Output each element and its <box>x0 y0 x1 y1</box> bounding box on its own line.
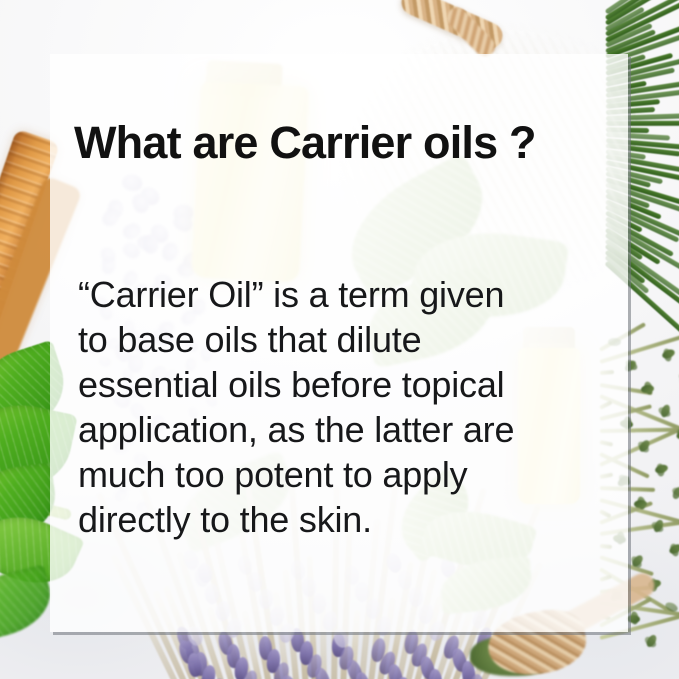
body-line: to base oils that dilute <box>78 317 618 362</box>
image-canvas: What are Carrier oils ? “Carrier Oil” is… <box>0 0 679 679</box>
thyme-leaf-icon <box>627 615 640 624</box>
body-line: “Carrier Oil” is a term given <box>78 272 618 317</box>
body-paragraph: “Carrier Oil” is a term given to base oi… <box>78 272 618 542</box>
body-line: application, as the latter are <box>78 407 618 452</box>
body-line: directly to the skin. <box>78 497 618 542</box>
body-line: essential oils before topical <box>78 362 618 407</box>
body-line: much too potent to apply <box>78 452 618 497</box>
page-title: What are Carrier oils ? <box>74 120 634 165</box>
